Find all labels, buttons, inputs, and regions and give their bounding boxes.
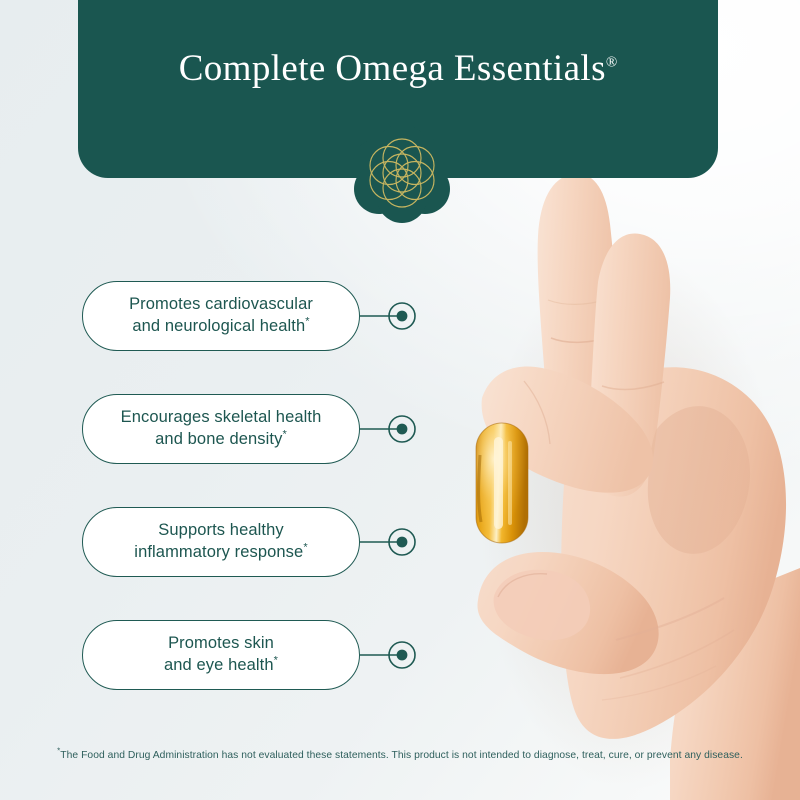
footnote-marker-2: * bbox=[282, 429, 286, 441]
connector-1 bbox=[360, 301, 424, 331]
benefit-line-3a: Supports healthy bbox=[158, 521, 283, 539]
footnote-marker-4: * bbox=[274, 655, 278, 667]
benefit-text-2: Encourages skeletal health and bone dens… bbox=[107, 407, 336, 451]
connector-dot-1 bbox=[397, 311, 408, 322]
connector-3 bbox=[360, 527, 424, 557]
registered-trademark-icon: ® bbox=[606, 55, 617, 71]
footnote-marker-3: * bbox=[303, 542, 307, 554]
footnote-marker-1: * bbox=[305, 316, 309, 328]
page-title: Complete Omega Essentials® bbox=[78, 50, 718, 87]
flower-of-life-emblem bbox=[352, 126, 452, 226]
benefit-line-1b: and neurological health bbox=[132, 317, 305, 335]
benefit-line-1a: Promotes cardiovascular bbox=[129, 295, 313, 313]
connector-4 bbox=[360, 640, 424, 670]
benefit-line-4b: and eye health bbox=[164, 656, 274, 674]
benefit-line-4a: Promotes skin bbox=[168, 634, 274, 652]
softgel-capsule bbox=[476, 423, 528, 543]
benefit-text-4: Promotes skin and eye health* bbox=[150, 633, 292, 677]
product-title-text: Complete Omega Essentials bbox=[179, 48, 606, 89]
connector-2 bbox=[360, 414, 424, 444]
benefit-pill-1: Promotes cardiovascular and neurological… bbox=[82, 281, 360, 351]
benefit-line-2b: and bone density bbox=[155, 430, 282, 448]
benefit-pill-2: Encourages skeletal health and bone dens… bbox=[82, 394, 360, 464]
fda-disclaimer: *The Food and Drug Administration has no… bbox=[0, 750, 800, 761]
benefit-line-3b: inflammatory response bbox=[134, 543, 303, 561]
benefit-pill-4: Promotes skin and eye health* bbox=[82, 620, 360, 690]
benefit-line-2a: Encourages skeletal health bbox=[121, 408, 322, 426]
disclaimer-text: The Food and Drug Administration has not… bbox=[60, 750, 743, 761]
connector-dot-4 bbox=[397, 650, 408, 661]
connector-dot-2 bbox=[397, 424, 408, 435]
benefit-text-1: Promotes cardiovascular and neurological… bbox=[115, 294, 327, 338]
product-infographic: Complete Omega Essentials® bbox=[0, 0, 800, 800]
connector-dot-3 bbox=[397, 537, 408, 548]
benefit-text-3: Supports healthy inflammatory response* bbox=[120, 520, 321, 564]
benefit-pill-3: Supports healthy inflammatory response* bbox=[82, 507, 360, 577]
